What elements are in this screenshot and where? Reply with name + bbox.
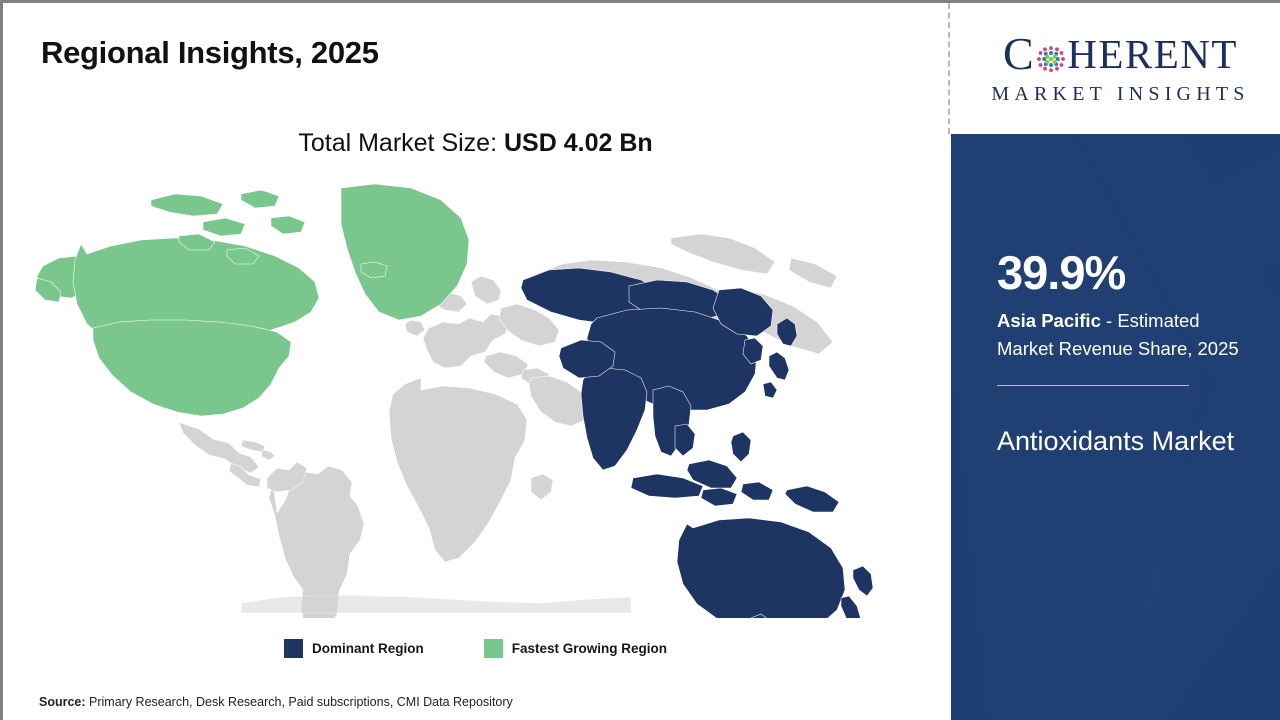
logo-wordmark: C [1003, 31, 1238, 77]
regional-insights-infographic: Regional Insights, 2025 Total Market Siz… [0, 0, 1280, 720]
world-map [31, 178, 921, 618]
source-text: Primary Research, Desk Research, Paid su… [86, 695, 513, 709]
source-label: Source: [39, 695, 86, 709]
stat-value: 39.9% [997, 249, 1247, 296]
legend-label-fastest-growing: Fastest Growing Region [512, 641, 667, 656]
stat-panel: 39.9% Asia Pacific - Estimated Market Re… [951, 134, 1280, 720]
logo-tagline: MARKET INSIGHTS [991, 83, 1249, 106]
total-market-size-label: Total Market Size: [298, 129, 497, 157]
left-content-pane: Regional Insights, 2025 Total Market Siz… [3, 3, 948, 720]
market-name: Antioxidants Market [997, 422, 1247, 461]
legend-label-dominant: Dominant Region [312, 641, 424, 656]
page-title: Regional Insights, 2025 [41, 35, 379, 71]
logo-letter-c: C [1003, 31, 1035, 77]
brand-logo: C [958, 3, 1280, 134]
total-market-size: Total Market Size: USD 4.02 Bn [3, 129, 948, 158]
dotted-globe-icon [1036, 40, 1066, 70]
panel-divider-rule [997, 385, 1189, 386]
stat-region-name: Asia Pacific [997, 310, 1101, 331]
map-fastest-growing-region [35, 184, 469, 416]
vertical-dashed-divider [948, 3, 950, 134]
legend-swatch-dominant-icon [284, 639, 303, 658]
total-market-size-value: USD 4.02 Bn [504, 129, 653, 157]
legend-swatch-fastest-growing-icon [484, 639, 503, 658]
map-legend: Dominant Region Fastest Growing Region [3, 639, 948, 658]
map-dominant-region [521, 268, 873, 618]
stat-description: Asia Pacific - Estimated Market Revenue … [997, 307, 1247, 363]
stat-panel-content: 39.9% Asia Pacific - Estimated Market Re… [997, 249, 1247, 461]
legend-item-dominant: Dominant Region [284, 639, 424, 658]
logo-letters-herent: HERENT [1067, 34, 1238, 75]
legend-item-fastest-growing: Fastest Growing Region [484, 639, 667, 658]
source-footer: Source: Primary Research, Desk Research,… [39, 695, 513, 709]
